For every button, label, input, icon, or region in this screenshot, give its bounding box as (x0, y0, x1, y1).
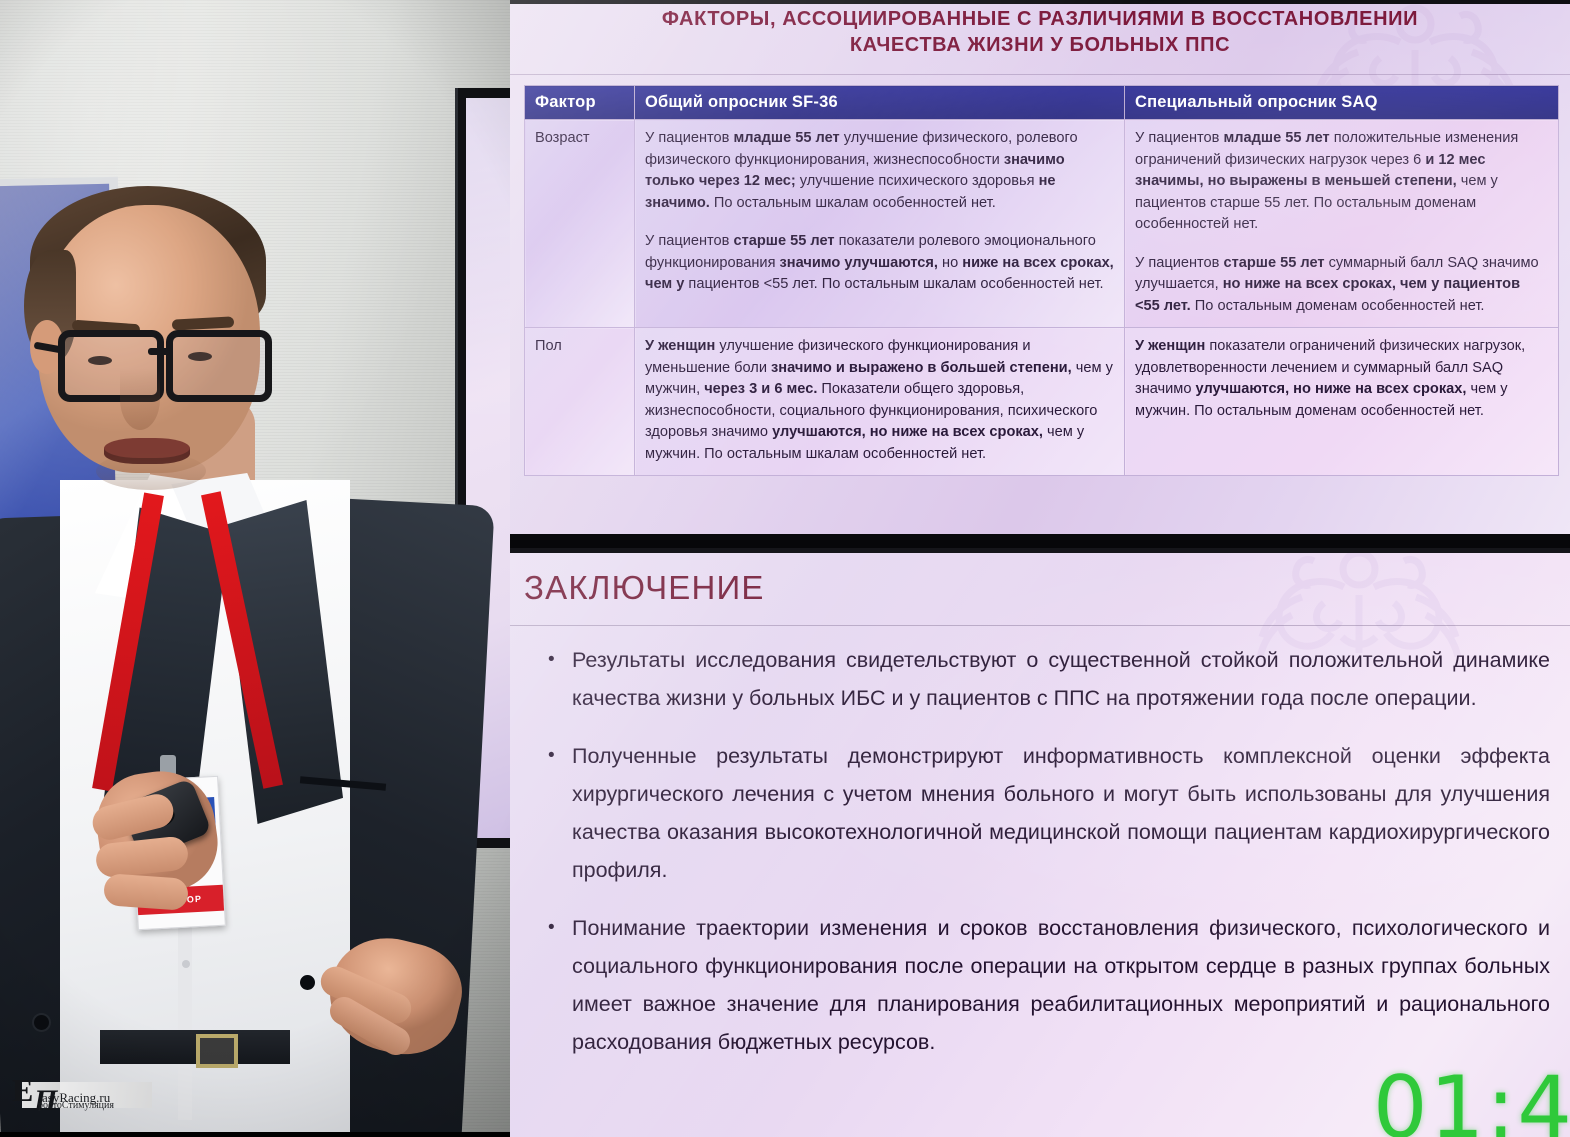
col-header-sf36: Общий опросник SF-36 (635, 86, 1125, 120)
nose (120, 368, 160, 430)
belt-buckle (196, 1034, 238, 1068)
slide-bottom-edge (510, 534, 1570, 540)
chin (96, 452, 206, 490)
presenter-photo: ПРОФЕССОР ЛЕКТОР (0, 0, 510, 1132)
projection-screen: ФАКТОРЫ, АССОЦИИРОВАННЫЕ С РАЗЛИЧИЯМИ В … (510, 0, 1570, 1132)
col-header-factor: Фактор (525, 86, 635, 120)
cell-saq: У женщин показатели ограничений физическ… (1125, 328, 1559, 476)
jacket-button (300, 975, 315, 990)
cell-saq: У пациентов младше 55 лет положительные … (1125, 120, 1559, 328)
cell-paragraph: У пациентов младше 55 лет улучшение физи… (645, 128, 1114, 214)
eyeglasses (56, 330, 272, 394)
watermark-logo: E asyRacing.ru П ростоСтимуляция (8, 1070, 160, 1122)
title-divider (510, 74, 1570, 75)
cell-paragraph: У пациентов младше 55 лет положительные … (1135, 128, 1548, 236)
bullet-text: Результаты исследования свидетельствуют … (572, 641, 1550, 717)
finger (103, 873, 189, 911)
cell-factor: Возраст (525, 120, 635, 328)
bullet-text: Понимание траектории изменения и сроков … (572, 909, 1550, 1061)
cell-paragraph: У женщин показатели ограничений физическ… (1135, 336, 1548, 422)
glasses-bridge (148, 348, 170, 355)
countdown-timer: 01:4 (1373, 1065, 1570, 1137)
bullet-text: Полученные результаты демонстрируют инфо… (572, 737, 1550, 889)
presenter-figure: ПРОФЕССОР ЛЕКТОР (0, 0, 510, 1132)
cell-sf36: У женщин улучшение физического функциони… (635, 328, 1125, 476)
jacket-button (34, 1015, 49, 1030)
shirt-button (182, 960, 190, 968)
slide-title: ФАКТОРЫ, АССОЦИИРОВАННЫЕ С РАЗЛИЧИЯМИ В … (570, 6, 1510, 58)
table-row: Возраст У пациентов младше 55 лет улучше… (525, 120, 1559, 328)
slide-title-line-2: КАЧЕСТВА ЖИЗНИ У БОЛЬНЫХ ППС (570, 32, 1510, 58)
table-header-row: Фактор Общий опросник SF-36 Специальный … (525, 86, 1559, 120)
table-body: Возраст У пациентов младше 55 лет улучше… (525, 120, 1559, 476)
cell-factor: Пол (525, 328, 635, 476)
table-row: Пол У женщин улучшение физического функц… (525, 328, 1559, 476)
cell-sf36: У пациентов младше 55 лет улучшение физи… (635, 120, 1125, 328)
list-item: Понимание траектории изменения и сроков … (540, 909, 1550, 1061)
cell-paragraph: У пациентов старше 55 лет показатели рол… (645, 231, 1114, 296)
cell-paragraph: У женщин улучшение физического функциони… (645, 336, 1114, 465)
list-item: Полученные результаты демонстрируют инфо… (540, 737, 1550, 889)
slide-top-edge (510, 0, 1570, 4)
lens-right (166, 330, 272, 402)
conclusion-divider (510, 625, 1570, 626)
belt (100, 1030, 290, 1064)
slide-conclusion: ЗАКЛЮЧЕНИЕ Результаты исследования свиде… (510, 548, 1570, 1137)
conclusion-title: ЗАКЛЮЧЕНИЕ (524, 569, 765, 607)
watermark-initial: E (12, 1072, 32, 1109)
col-header-saq: Специальный опросник SAQ (1125, 86, 1559, 120)
watermark-overlay-sub: ростоСтимуляция (38, 1100, 114, 1111)
list-item: Результаты исследования свидетельствуют … (540, 641, 1550, 717)
factors-table: Фактор Общий опросник SF-36 Специальный … (524, 85, 1559, 476)
conclusion-bullet-list: Результаты исследования свидетельствуют … (540, 641, 1550, 1081)
slide-title-line-1: ФАКТОРЫ, АССОЦИИРОВАННЫЕ С РАЗЛИЧИЯМИ В … (570, 6, 1510, 32)
screenshot-root: ПРОФЕССОР ЛЕКТОР (0, 0, 1570, 1132)
cell-paragraph: У пациентов старше 55 лет суммарный балл… (1135, 253, 1548, 318)
slide-factors: ФАКТОРЫ, АССОЦИИРОВАННЫЕ С РАЗЛИЧИЯМИ В … (510, 0, 1570, 540)
